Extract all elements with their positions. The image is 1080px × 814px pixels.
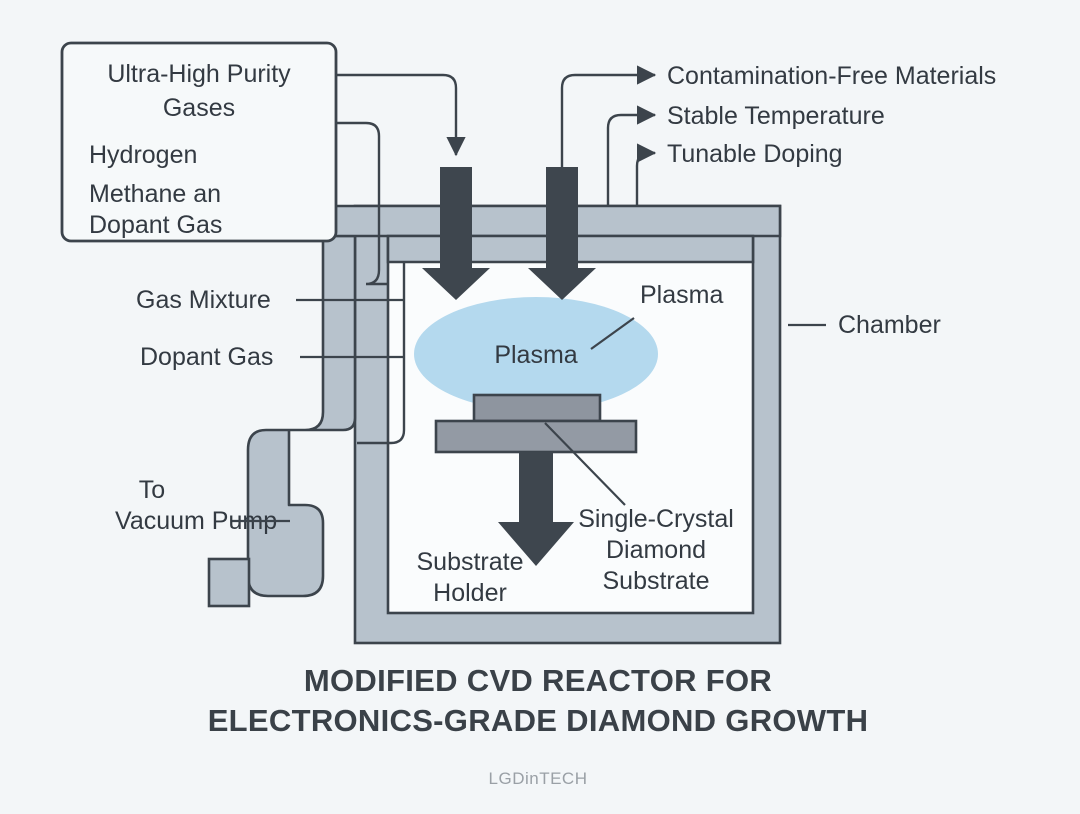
cvd-reactor-diagram: Plasma [0, 0, 1080, 814]
callout-label-plasma: Plasma [640, 281, 723, 309]
gas-box-item-methane-line1: Methane an [89, 180, 221, 208]
single-crystal-diamond-substrate [474, 395, 600, 421]
callout-label-diamond-substrate-line1: Single-Crystal [578, 505, 734, 533]
left-label-dopant-gas: Dopant Gas [140, 343, 273, 371]
watermark: LGDinTECH [489, 769, 588, 788]
diagram-title-line2: ELECTRONICS-GRADE DIAMOND GROWTH [208, 703, 869, 738]
left-label-gas-mixture: Gas Mixture [136, 286, 271, 314]
outcome-label-contamination-free-materials: Contamination-Free Materials [667, 62, 996, 90]
outcome-line-doping [637, 153, 655, 206]
diagram-title-line1: MODIFIED CVD REACTOR FOR [304, 663, 772, 698]
gas-box-item-methane-line2: Dopant Gas [89, 211, 222, 239]
vacuum-pump-nub [209, 559, 249, 606]
callout-label-diamond-substrate-line2: Diamond [606, 536, 706, 564]
right-label-chamber: Chamber [838, 311, 941, 339]
gas-line-ultrapure [336, 75, 456, 155]
left-label-to: To [139, 476, 165, 504]
substrate-holder [436, 421, 636, 452]
outcome-label-stable-temperature: Stable Temperature [667, 102, 885, 130]
plasma-inside-label: Plasma [494, 341, 577, 369]
callout-label-substrate-holder-line1: Substrate [416, 548, 523, 576]
gas-box-heading-line2: Gases [163, 94, 235, 122]
outcome-label-tunable-doping: Tunable Doping [667, 140, 843, 168]
gas-box-heading-line1: Ultra-High Purity [107, 60, 291, 88]
gas-box-item-hydrogen: Hydrogen [89, 141, 197, 169]
callout-label-diamond-substrate-line3: Substrate [602, 567, 709, 595]
diagram-canvas: Plasma [0, 0, 1080, 814]
callout-label-substrate-holder-line2: Holder [433, 579, 507, 607]
outcome-line-temperature [608, 115, 655, 206]
